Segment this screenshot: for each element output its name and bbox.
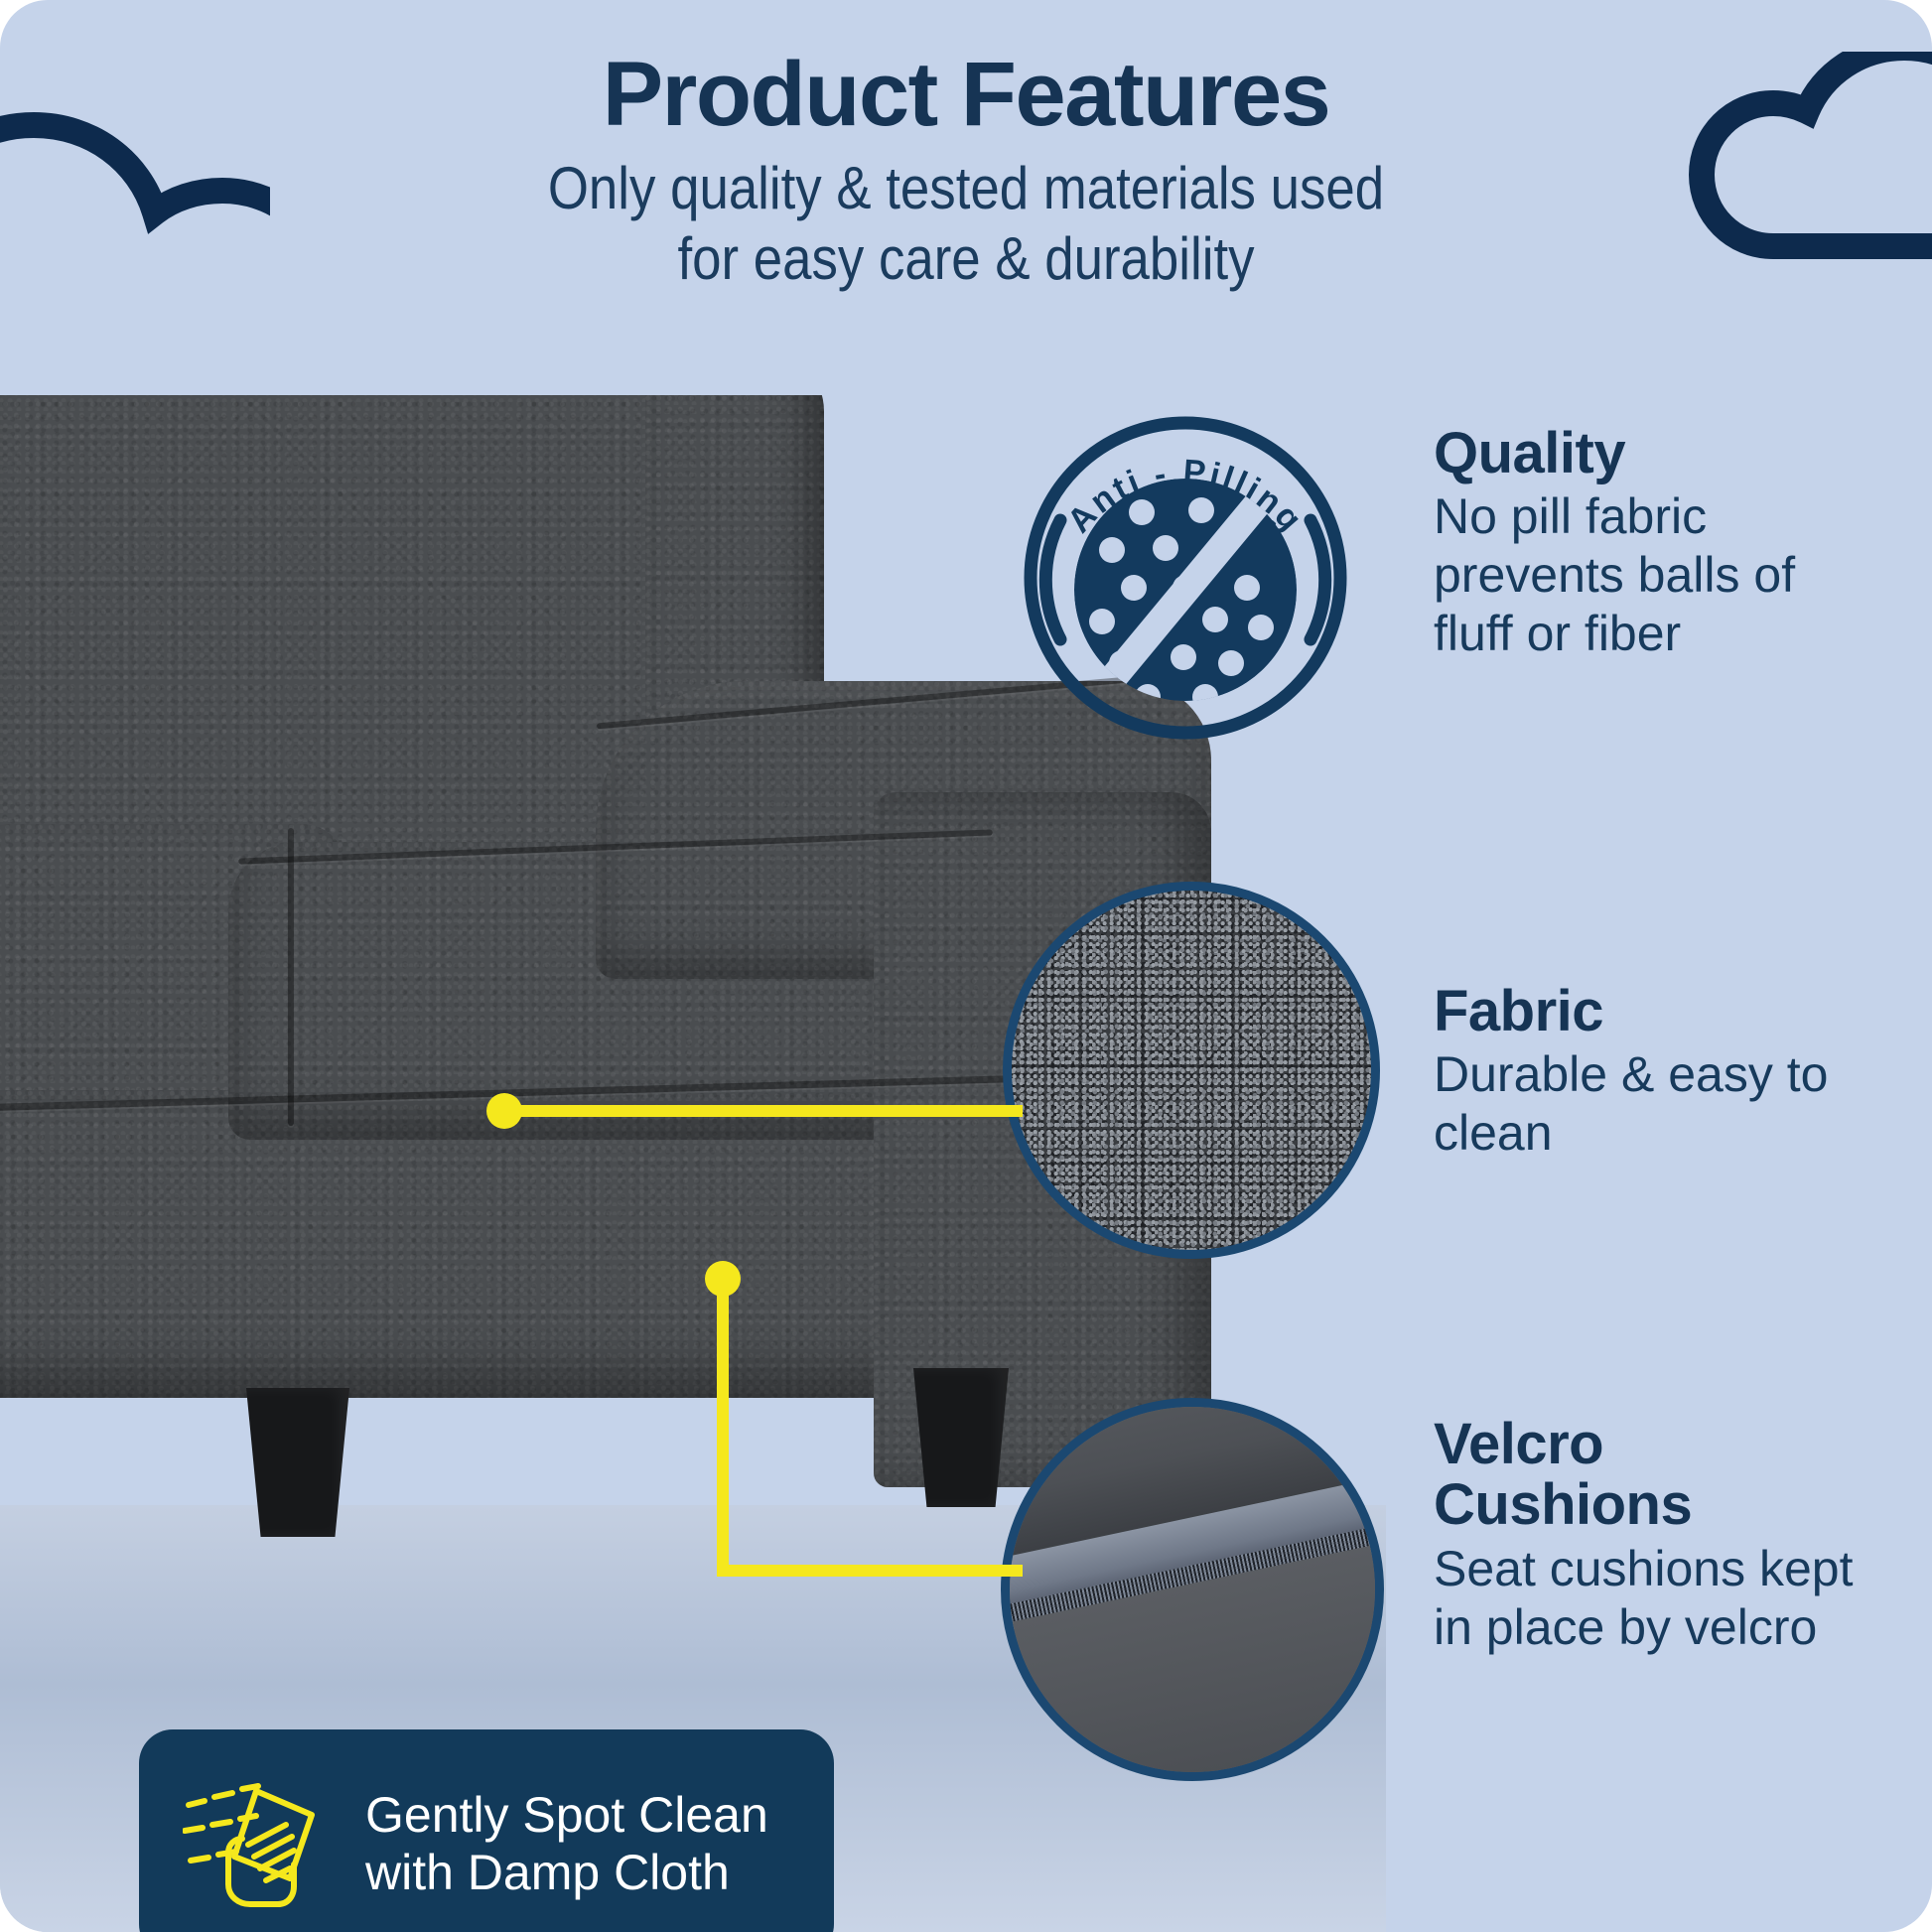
feature-fabric: Fabric Durable & easy to clean xyxy=(1434,981,1861,1163)
sofa-leg xyxy=(913,1368,1009,1507)
feature-heading: Velcro Cushions xyxy=(1434,1414,1861,1536)
subtitle-line-2: for easy care & durability xyxy=(677,225,1254,292)
feature-body: Seat cushions kept in place by velcro xyxy=(1434,1540,1861,1657)
seam-line xyxy=(288,828,294,1126)
feature-velcro: Velcro Cushions Seat cushions kept in pl… xyxy=(1434,1414,1861,1657)
subtitle-line-1: Only quality & tested materials used xyxy=(548,155,1384,221)
sofa-leg xyxy=(246,1388,349,1537)
hand-wiping-cloth-icon xyxy=(183,1769,332,1918)
spot-clean-line-2: with Damp Cloth xyxy=(365,1845,730,1900)
no-pilling-icon xyxy=(1074,479,1297,710)
feature-quality: Quality No pill fabric prevents balls of… xyxy=(1434,423,1851,663)
spot-clean-text: Gently Spot Clean with Damp Cloth xyxy=(365,1786,768,1901)
fabric-closeup-circle xyxy=(1003,882,1380,1259)
velcro-closeup-circle xyxy=(1001,1398,1384,1781)
spot-clean-badge: Gently Spot Clean with Damp Cloth xyxy=(139,1729,834,1932)
page-subtitle: Only quality & tested materials used for… xyxy=(116,154,1816,293)
feature-body: Durable & easy to clean xyxy=(1434,1045,1861,1163)
spot-clean-line-1: Gently Spot Clean xyxy=(365,1787,768,1843)
page-title: Product Features xyxy=(0,46,1932,144)
feature-heading: Quality xyxy=(1434,423,1851,483)
product-feature-card: Product Features Only quality & tested m… xyxy=(0,0,1932,1932)
header: Product Features Only quality & tested m… xyxy=(0,46,1932,294)
feature-body: No pill fabric prevents balls of fluff o… xyxy=(1434,487,1851,663)
infographic-canvas: Product Features Only quality & tested m… xyxy=(0,0,1932,1932)
anti-pilling-badge: Anti - Pilling xyxy=(1017,403,1354,751)
feature-heading: Fabric xyxy=(1434,981,1861,1041)
